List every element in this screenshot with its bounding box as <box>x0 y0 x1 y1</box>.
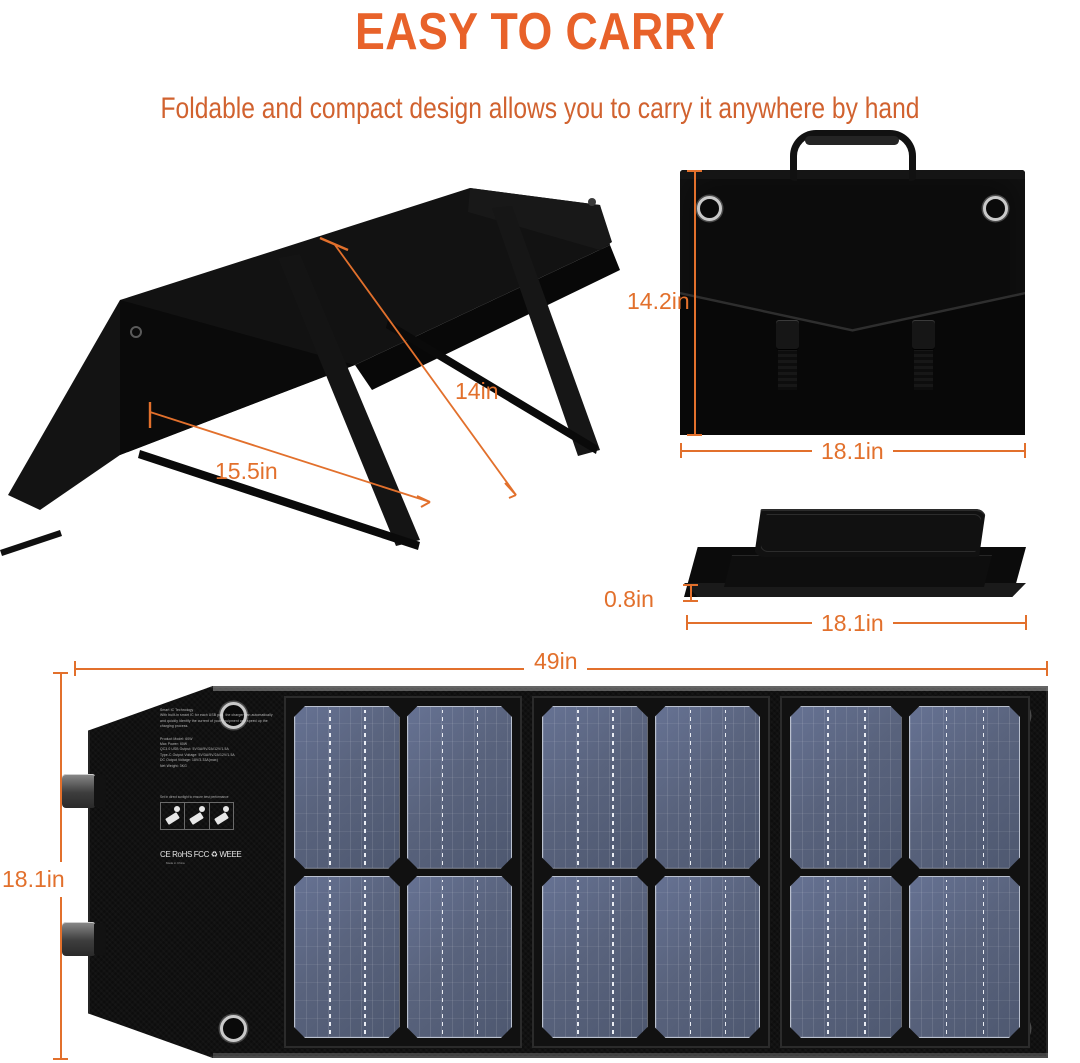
solar-cell <box>407 876 513 1039</box>
solar-cell <box>542 706 648 869</box>
dimension-tick <box>687 434 702 436</box>
solar-cell <box>655 876 761 1039</box>
dimension-tick <box>683 600 698 602</box>
solar-cell <box>909 876 1021 1039</box>
dimension-label-stand-height: 14in <box>455 378 498 405</box>
solar-cell <box>407 706 513 869</box>
solar-cell <box>294 706 400 869</box>
solar-cell <box>909 706 1021 869</box>
made-in-label: Made in China <box>166 861 278 865</box>
dimension-tick <box>683 584 698 586</box>
dimension-tick <box>74 661 76 676</box>
dimension-label-thin-width: 18.1in <box>812 610 893 637</box>
dimension-label-case-width: 18.1in <box>812 438 893 465</box>
carry-handle-icon <box>790 130 916 181</box>
buckle-clip-icon <box>62 774 96 808</box>
sun-angle-step-1 <box>161 803 185 829</box>
kickstand-view: 14in 15.5in <box>0 150 660 570</box>
panel-section <box>284 696 522 1048</box>
folded-briefcase-view <box>680 170 1025 435</box>
dimension-label-panel-height: 18.1in <box>0 862 67 897</box>
spec-flap: Smart IC Technology With built-in smart … <box>160 708 278 1036</box>
panel-mid-layer <box>724 555 992 587</box>
buckle-strap-icon <box>912 320 935 350</box>
sun-angle-step-3 <box>210 803 233 829</box>
sunlight-caption: Set in direct sunlight to ensure best pe… <box>160 795 278 799</box>
solar-cell <box>294 876 400 1039</box>
certification-logos: CE RoHS FCC ♻ WEEE <box>160 850 278 859</box>
dimension-tick <box>1046 661 1048 676</box>
dimension-label-case-height: 14.2in <box>627 288 690 315</box>
sun-angle-step-2 <box>185 803 209 829</box>
sun-angle-diagram <box>160 802 234 830</box>
buckle-strap-icon <box>776 320 799 350</box>
dimension-tick <box>687 170 702 172</box>
buckle-clip-icon <box>62 922 96 956</box>
dimension-tick <box>1025 615 1027 630</box>
panel-section <box>780 696 1030 1048</box>
solar-cell <box>790 706 902 869</box>
dimension-label-stand-depth: 15.5in <box>215 458 278 485</box>
grommet-icon <box>697 196 722 221</box>
solar-cell <box>655 706 761 869</box>
dimension-tick <box>686 615 688 630</box>
solar-cell <box>790 876 902 1039</box>
dimension-label-panel-width: 49in <box>524 648 587 675</box>
grommet-icon <box>983 196 1008 221</box>
dimension-tick <box>680 443 682 458</box>
certification-marks: CE RoHS FCC ♻ WEEE <box>160 850 241 859</box>
panel-bottom-trim <box>213 1053 1048 1058</box>
page-title: EASY TO CARRY <box>76 2 1005 62</box>
spec-list: Product Model: 60W Max Power: 60W QC3.0 … <box>160 737 278 769</box>
dimension-label-thickness: 0.8in <box>604 586 654 613</box>
solar-cell <box>542 876 648 1039</box>
dimension-tick <box>53 672 68 674</box>
dimension-tick <box>1024 443 1026 458</box>
panel-top-fold-seam <box>760 514 982 552</box>
unfolded-panel-view: Smart IC Technology With built-in smart … <box>88 686 1048 1058</box>
panel-section <box>532 696 770 1048</box>
panel-top-trim <box>213 686 1048 691</box>
infographic-canvas: EASY TO CARRY Foldable and compact desig… <box>0 0 1080 1063</box>
page-subtitle: Foldable and compact design allows you t… <box>97 92 983 126</box>
spec-paragraph: Smart IC Technology With built-in smart … <box>160 708 278 730</box>
dimension-line-case-height <box>694 170 696 435</box>
folded-thickness-view <box>676 505 1036 600</box>
dimension-tick <box>53 1058 68 1060</box>
